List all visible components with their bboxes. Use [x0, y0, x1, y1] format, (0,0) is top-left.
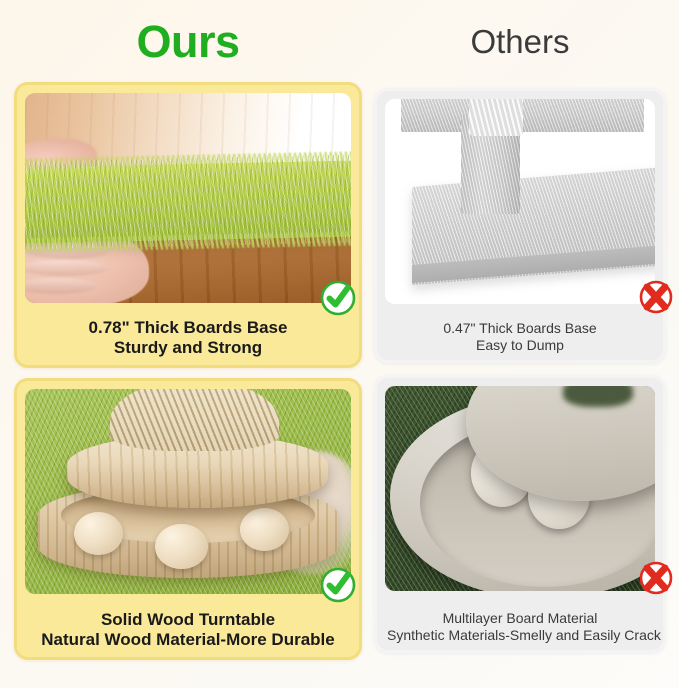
column-heading-ours: Ours: [14, 0, 362, 82]
sisal-scratcher-ball: [110, 389, 280, 451]
heading-others-label: Others: [470, 25, 569, 58]
comparison-card-others-turntable: Multilayer Board Material Synthetic Mate…: [374, 375, 666, 653]
product-photo-others-turntable: [385, 386, 655, 591]
caption-line-2: Sturdy and Strong: [27, 338, 349, 359]
sisal-rope-post: [469, 99, 523, 136]
caption-line-1: Multilayer Board Material: [387, 610, 653, 627]
wooden-ball: [155, 524, 207, 569]
product-photo-ours-turntable: [25, 389, 351, 594]
caption-line-1: Solid Wood Turntable: [27, 610, 349, 631]
upper-shelf: [401, 99, 644, 132]
wooden-ball: [74, 512, 123, 555]
product-photo-others-thickness: [385, 99, 655, 304]
comparison-card-ours-turntable: Solid Wood Turntable Natural Wood Materi…: [14, 378, 362, 660]
turf-shadow: [563, 386, 633, 407]
check-circle-icon: [318, 278, 358, 318]
check-circle-icon: [318, 565, 358, 605]
heading-ours-label: Ours: [136, 19, 239, 64]
comparison-card-ours-thickness: 0.78" Thick Boards Base Sturdy and Stron…: [14, 82, 362, 368]
product-photo-ours-thickness: [25, 93, 351, 303]
wooden-ball: [240, 508, 289, 551]
green-plush-board: [25, 161, 351, 244]
caption-line-2: Synthetic Materials-Smelly and Easily Cr…: [387, 627, 653, 644]
x-circle-icon: [636, 558, 676, 598]
comparison-card-others-thickness: 0.47" Thick Boards Base Easy to Dump: [374, 88, 666, 363]
card-caption-others-turntable: Multilayer Board Material Synthetic Mate…: [387, 610, 653, 644]
card-caption-ours-thickness: 0.78" Thick Boards Base Sturdy and Stron…: [27, 318, 349, 359]
column-heading-others: Others: [374, 0, 666, 82]
caption-line-1: 0.47" Thick Boards Base: [387, 320, 653, 337]
x-circle-icon: [636, 277, 676, 317]
card-caption-ours-turntable: Solid Wood Turntable Natural Wood Materi…: [27, 610, 349, 651]
card-caption-others-thickness: 0.47" Thick Boards Base Easy to Dump: [387, 320, 653, 354]
comparison-headings: Ours Others: [0, 0, 679, 82]
caption-line-2: Natural Wood Material-More Durable: [27, 630, 349, 651]
caption-line-1: 0.78" Thick Boards Base: [27, 318, 349, 339]
caption-line-2: Easy to Dump: [387, 337, 653, 354]
